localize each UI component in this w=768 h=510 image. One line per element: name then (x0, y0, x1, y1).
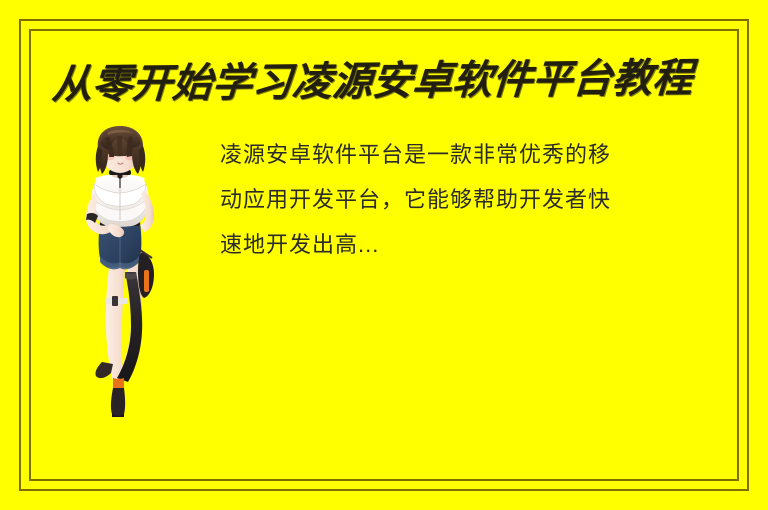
poster-body-text: 凌源安卓软件平台是一款非常优秀的移 动应用开发平台，它能够帮助开发者快 速地开发… (220, 132, 726, 267)
poster-canvas: 从零开始学习凌源安卓软件平台教程 凌源安卓软件平台是一款非常优秀的移 动应用开发… (0, 0, 768, 510)
body-line: 速地开发出高... (220, 222, 726, 267)
anime-girl-illustration (72, 126, 180, 418)
body-line: 动应用开发平台，它能够帮助开发者快 (220, 177, 726, 222)
poster-title: 从零开始学习凌源安卓软件平台教程 (50, 53, 714, 112)
body-line: 凌源安卓软件平台是一款非常优秀的移 (220, 132, 726, 177)
